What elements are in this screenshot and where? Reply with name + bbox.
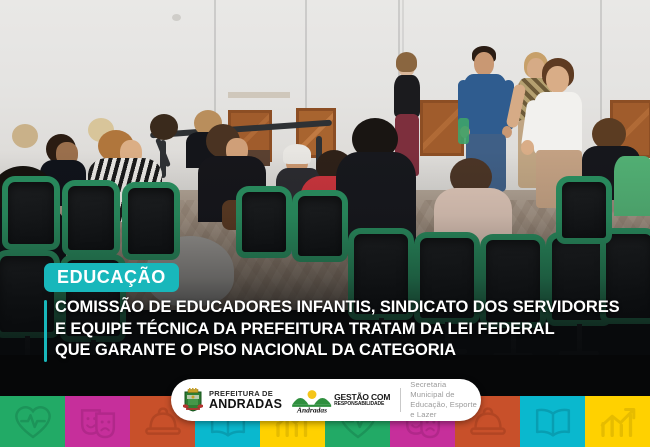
speaker-torso [463,74,507,136]
hills-sun-icon: Andradas [291,387,333,413]
ceiling-fixture [172,14,181,21]
headline-line-3: QUE GARANTE O PISO NACIONAL DA CATEGORIA [55,340,645,362]
water-bottle [458,118,469,144]
audience-hair [12,124,38,148]
gestao-logo: Andradas GESTÃO COM RESPONSABILIDADE [291,387,390,413]
category-badge[interactable]: EDUCAÇÃO [44,263,179,292]
secretaria-line-1: Secretaria Municipal de [410,380,481,400]
coat-of-arms-icon [182,388,204,412]
gestao-line-2: RESPONSABILIDADE [334,402,390,407]
strip-cell-cultura [65,396,130,447]
strip-cell-educacao [520,396,585,447]
secretaria-label: Secretaria Municipal de Educação, Esport… [410,380,481,420]
speaker-head [546,66,569,93]
open-book-icon [533,402,573,442]
strip-cell-desenvolvimento [585,396,650,447]
speaker-torso [534,92,582,154]
svg-text:Andradas: Andradas [296,405,327,413]
gestao-wordmark: GESTÃO COM RESPONSABILIDADE [334,393,390,408]
growth-chart-icon [598,402,638,442]
headline-line-1: COMISSÃO DE EDUCADORES INFANTIS, SINDICA… [55,297,645,319]
headline-line-2: E EQUIPE TÉCNICA DA PREFEITURA TRATAM DA… [55,319,645,341]
prefeitura-line-2: ANDRADAS [209,398,282,411]
headline-accent-bar [44,300,47,362]
headline: COMISSÃO DE EDUCADORES INFANTIS, SINDICA… [55,297,645,362]
speaker-torso [394,75,420,117]
speaker-hair [396,52,417,72]
audience-hair [150,114,178,140]
footer-divider [400,388,401,412]
gestao-line-1: GESTÃO COM [334,393,390,402]
strip-cell-saude [0,396,65,447]
theater-masks-icon [78,402,118,442]
back-table [228,92,290,98]
wall-seam [305,0,307,120]
prefeitura-wordmark: PREFEITURA DE ANDRADAS [209,390,282,411]
news-banner: EDUCAÇÃO COMISSÃO DE EDUCADORES INFANTIS… [0,0,650,447]
secretaria-line-2: Educação, Esporte e Lazer [410,400,481,420]
speaker-head [474,52,494,76]
heart-pulse-icon [13,402,53,442]
footer-logo-card: PREFEITURA DE ANDRADAS Andradas GESTÃO C… [171,379,481,421]
